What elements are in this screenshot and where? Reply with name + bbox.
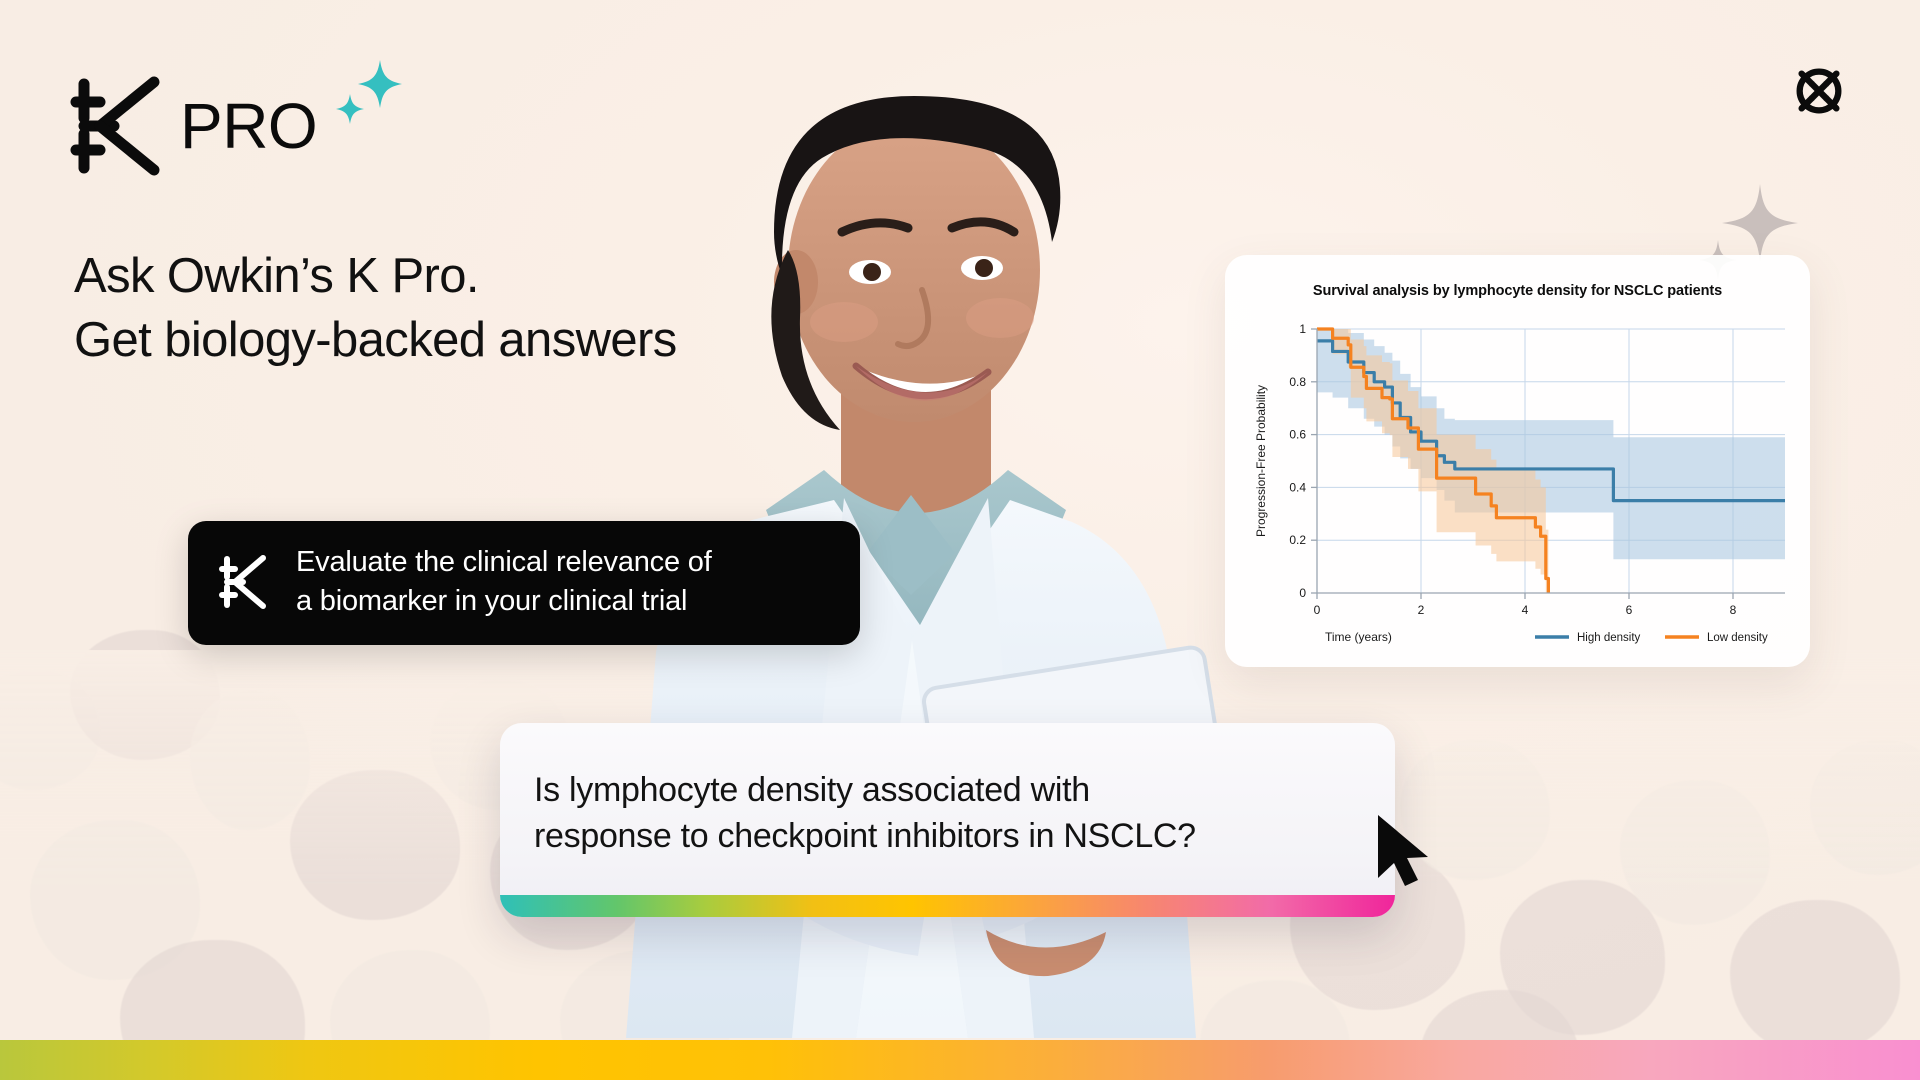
prompt-suggestion-text: Evaluate the clinical relevance of a bio… [296, 543, 712, 620]
sparkle-teal-icon [334, 56, 404, 128]
svg-text:0.6: 0.6 [1289, 428, 1306, 442]
svg-text:2: 2 [1418, 603, 1425, 617]
svg-text:Time (years): Time (years) [1325, 630, 1392, 644]
confidence-bands [1317, 329, 1785, 593]
question-line-2: response to checkpoint inhibitors in NSC… [534, 813, 1343, 859]
headline-line-1: Ask Owkin’s K Pro. [74, 245, 677, 309]
svg-text:8: 8 [1730, 603, 1737, 617]
svg-text:4: 4 [1522, 603, 1529, 617]
svg-text:Progression-Free Probability: Progression-Free Probability [1254, 385, 1268, 537]
banner-stage: PRO Ask Owkin’s K Pro. Get biology-backe… [0, 0, 1920, 1080]
mouse-pointer-icon [1372, 812, 1434, 890]
brand-logo-lockup[interactable]: PRO [70, 72, 317, 180]
owkin-circle-x-mark-icon [1790, 62, 1848, 120]
kaplan-meier-plot: 0246800.20.40.60.81Time (years)Progressi… [1239, 305, 1799, 665]
accent-gradient-bar [500, 895, 1395, 917]
owkin-k-glyph-icon [70, 72, 166, 180]
prompt-line-1: Evaluate the clinical relevance of [296, 543, 712, 582]
question-line-1: Is lymphocyte density associated with [534, 767, 1343, 813]
question-text: Is lymphocyte density associated with re… [500, 723, 1395, 859]
svg-text:6: 6 [1626, 603, 1633, 617]
svg-text:0.8: 0.8 [1289, 375, 1306, 389]
svg-text:0: 0 [1299, 586, 1306, 600]
bottom-gradient-strip [0, 1040, 1920, 1080]
svg-text:0.4: 0.4 [1289, 480, 1306, 494]
survival-analysis-chart-card[interactable]: Survival analysis by lymphocyte density … [1225, 255, 1810, 667]
question-input-card[interactable]: Is lymphocyte density associated with re… [500, 723, 1395, 917]
svg-text:High density: High density [1577, 632, 1641, 644]
brand-pro-label: PRO [180, 94, 317, 158]
svg-text:0.2: 0.2 [1289, 533, 1306, 547]
svg-text:Low density: Low density [1707, 632, 1768, 644]
chart-legend: High densityLow density [1535, 632, 1768, 644]
chart-title: Survival analysis by lymphocyte density … [1239, 283, 1796, 299]
page-headline: Ask Owkin’s K Pro. Get biology-backed an… [74, 245, 677, 372]
svg-text:0: 0 [1314, 603, 1321, 617]
prompt-line-2: a biomarker in your clinical trial [296, 582, 712, 621]
owkin-k-glyph-icon [218, 552, 270, 612]
svg-text:1: 1 [1299, 322, 1306, 336]
prompt-suggestion-card[interactable]: Evaluate the clinical relevance of a bio… [188, 521, 860, 645]
headline-line-2: Get biology-backed answers [74, 309, 677, 373]
